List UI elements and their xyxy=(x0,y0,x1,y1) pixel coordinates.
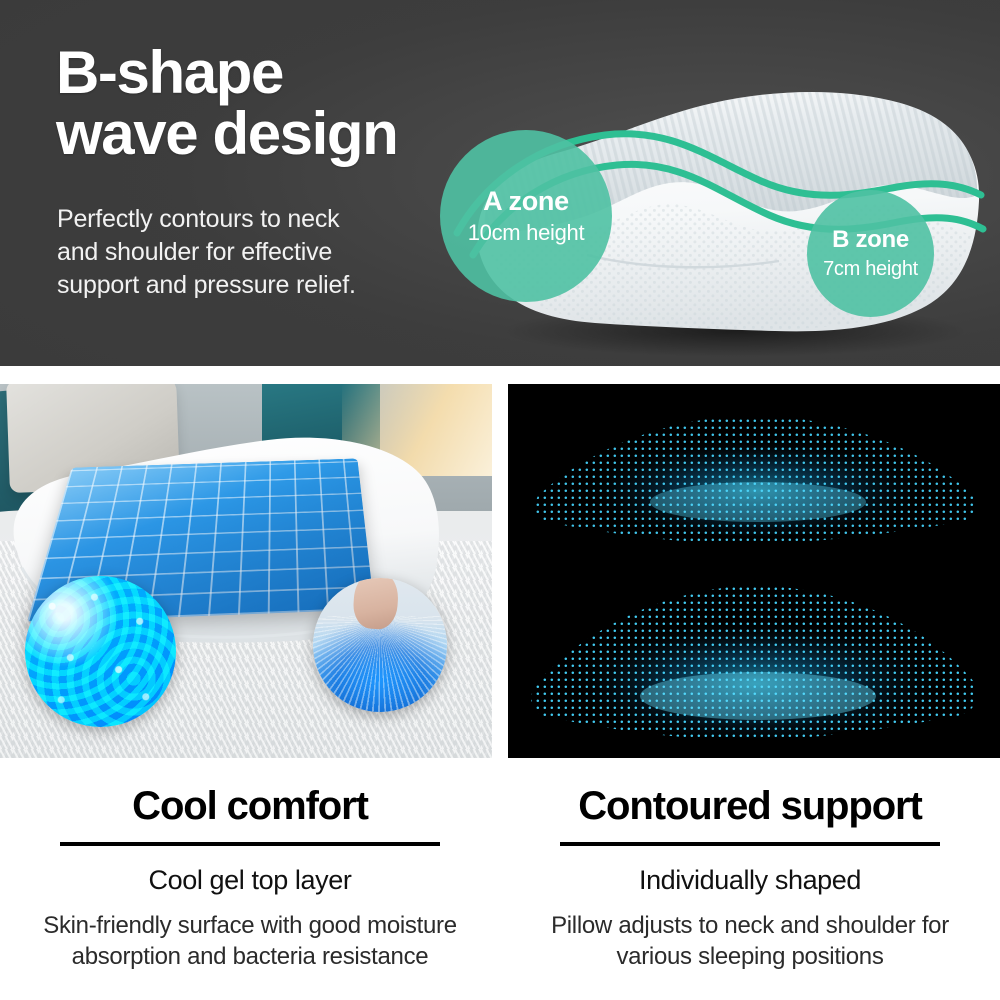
zone-badge-a: A zone 10cm height xyxy=(440,130,612,302)
caption-body: Pillow adjusts to neck and shoulder for … xyxy=(500,910,1000,972)
zone-a-name: A zone xyxy=(483,187,569,217)
caption-subtitle: Cool gel top layer xyxy=(0,865,500,896)
photo-row xyxy=(0,384,1000,758)
caption-title: Contoured support xyxy=(500,786,1000,826)
zone-b-name: B zone xyxy=(832,227,909,253)
hero-title: B-shape wave design xyxy=(56,42,397,164)
gel-pillow-photo xyxy=(0,384,492,758)
caption-title: Cool comfort xyxy=(0,786,500,826)
gel-peak xyxy=(334,613,426,691)
caption-body: Skin-friendly surface with good moisture… xyxy=(0,910,500,972)
caption-row: Cool comfort Cool gel top layer Skin-fri… xyxy=(0,770,1000,1000)
hero-panel: A zone 10cm height B zone 7cm height B-s… xyxy=(0,0,1000,366)
caption-divider xyxy=(60,842,440,846)
caption-divider xyxy=(560,842,940,846)
contour-matrix-photo xyxy=(508,384,1000,758)
dot-matrix-contours xyxy=(508,384,1000,758)
caption-subtitle: Individually shaped xyxy=(500,865,1000,896)
hero-subtitle: Perfectly contours to neck and shoulder … xyxy=(57,203,356,302)
zone-a-height: 10cm height xyxy=(468,221,585,245)
gel-pinch-inset xyxy=(313,578,447,712)
caption-contoured-support: Contoured support Individually shaped Pi… xyxy=(500,770,1000,972)
zone-b-height: 7cm height xyxy=(823,258,918,280)
infographic-page: A zone 10cm height B zone 7cm height B-s… xyxy=(0,0,1000,1000)
caption-cool-comfort: Cool comfort Cool gel top layer Skin-fri… xyxy=(0,770,500,972)
gel-beads-inset xyxy=(25,576,176,727)
zone-badge-b: B zone 7cm height xyxy=(807,190,934,317)
